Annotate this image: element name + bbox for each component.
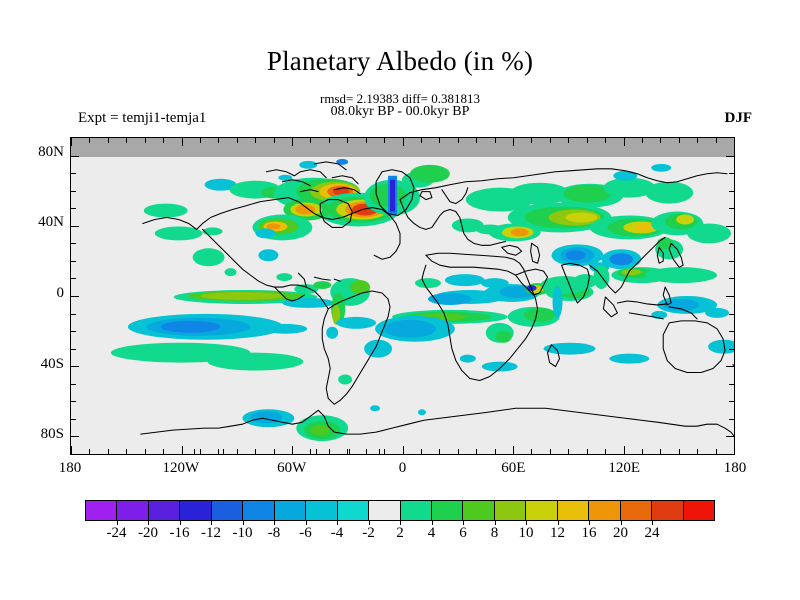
y-tick-minor — [729, 278, 734, 279]
figure-root: Planetary Albedo (in %) rmsd= 2.19383 di… — [0, 0, 800, 600]
x-tick-minor — [145, 138, 146, 143]
y-axis-label: 80N — [18, 144, 64, 161]
x-tick-minor — [349, 449, 350, 454]
colorbar-tick-label: -12 — [201, 525, 221, 542]
x-tick-major — [403, 138, 404, 146]
x-axis-label: 0 — [368, 460, 438, 477]
y-tick-minor — [729, 191, 734, 192]
y-axis-label: 80S — [18, 426, 64, 443]
colorbar-swatch — [212, 501, 243, 520]
x-tick-minor — [531, 138, 532, 143]
colorbar-swatch — [117, 501, 148, 520]
y-axis-label: 40N — [18, 214, 64, 231]
colorbar-swatch — [369, 501, 400, 520]
y-tick-major — [726, 366, 734, 367]
y-tick-minor — [71, 243, 76, 244]
y-tick-minor — [729, 261, 734, 262]
x-tick-minor — [163, 449, 164, 454]
y-axis-label: 0 — [18, 285, 64, 302]
colorbar-swatch — [243, 501, 274, 520]
y-tick-minor — [71, 401, 76, 402]
x-tick-minor — [439, 449, 440, 454]
y-tick-major — [726, 156, 734, 157]
x-tick-major — [71, 446, 72, 454]
colorbar-swatch — [306, 501, 337, 520]
colorbar-tick-label: 6 — [459, 525, 467, 542]
x-tick-minor — [421, 138, 422, 143]
x-tick-minor — [316, 449, 317, 454]
y-tick-minor — [729, 384, 734, 385]
x-tick-major — [182, 446, 183, 454]
colorbar-swatch — [275, 501, 306, 520]
colorbar-swatch — [149, 501, 180, 520]
colorbar-labels: -24-20-16-12-10-8-6-4-224681012162024 — [85, 525, 715, 545]
colorbar-swatch — [652, 501, 683, 520]
x-tick-minor — [642, 449, 643, 454]
colorbar-swatch — [463, 501, 494, 520]
anomaly-shading — [111, 159, 734, 441]
x-tick-major — [734, 138, 735, 146]
y-tick-minor — [729, 208, 734, 209]
x-tick-minor — [716, 449, 717, 454]
x-tick-minor — [329, 449, 330, 454]
colorbar-tick-label: 20 — [613, 525, 628, 542]
x-axis-label: 180 — [700, 460, 770, 477]
x-tick-minor — [384, 138, 385, 143]
colorbar-tick-label: 4 — [428, 525, 436, 542]
x-tick-major — [182, 138, 183, 146]
y-tick-major — [71, 296, 79, 297]
y-tick-minor — [71, 191, 76, 192]
x-tick-minor — [223, 449, 224, 454]
x-tick-minor — [366, 449, 367, 454]
y-tick-major — [71, 436, 79, 437]
x-tick-minor — [716, 138, 717, 143]
x-tick-minor — [476, 138, 477, 143]
y-tick-minor — [729, 419, 734, 420]
colorbar-swatch — [338, 501, 369, 520]
x-tick-minor — [568, 449, 569, 454]
colorbar-tick-label: 2 — [396, 525, 404, 542]
colorbar-swatch — [86, 501, 117, 520]
x-tick-minor — [531, 449, 532, 454]
colorbar-tick-label: -10 — [233, 525, 253, 542]
season-label: DJF — [725, 110, 753, 127]
x-tick-minor — [108, 138, 109, 143]
x-tick-minor — [145, 449, 146, 454]
x-tick-minor — [255, 449, 256, 454]
colorbar-swatch — [589, 501, 620, 520]
map-field — [71, 138, 734, 454]
x-tick-major — [624, 446, 625, 454]
x-tick-minor — [347, 449, 348, 454]
x-tick-minor — [237, 138, 238, 143]
x-tick-major — [734, 446, 735, 454]
x-tick-minor — [329, 138, 330, 143]
x-tick-minor — [605, 449, 606, 454]
y-axis-label: 40S — [18, 356, 64, 373]
y-tick-minor — [729, 349, 734, 350]
colorbar-tick-label: 24 — [645, 525, 660, 542]
y-tick-major — [71, 156, 79, 157]
colorbar-swatch — [558, 501, 589, 520]
x-tick-minor — [550, 449, 551, 454]
y-tick-minor — [71, 419, 76, 420]
x-tick-minor — [274, 449, 275, 454]
colorbar-swatch — [684, 501, 714, 520]
colorbar-swatch — [621, 501, 652, 520]
x-tick-minor — [660, 138, 661, 143]
page-title: Planetary Albedo (in %) — [0, 46, 800, 77]
x-tick-minor — [194, 449, 195, 454]
x-tick-minor — [679, 138, 680, 143]
x-tick-minor — [218, 138, 219, 143]
colorbar-tick-label: 8 — [491, 525, 499, 542]
x-tick-major — [403, 446, 404, 454]
x-tick-minor — [200, 449, 201, 454]
x-tick-minor — [587, 138, 588, 143]
x-axis-label: 180 — [35, 460, 105, 477]
x-tick-minor — [108, 449, 109, 454]
y-tick-major — [71, 226, 79, 227]
colorbar-swatch — [180, 501, 211, 520]
x-tick-minor — [421, 449, 422, 454]
x-tick-minor — [697, 449, 698, 454]
x-tick-minor — [476, 449, 477, 454]
x-axis-label: 60E — [478, 460, 548, 477]
x-tick-major — [624, 138, 625, 146]
x-tick-major — [71, 138, 72, 146]
x-tick-minor — [679, 449, 680, 454]
x-tick-minor — [439, 138, 440, 143]
x-tick-minor — [366, 138, 367, 143]
x-tick-minor — [587, 449, 588, 454]
colorbar-tick-label: -20 — [138, 525, 158, 542]
x-axis-label: 60W — [257, 460, 327, 477]
x-tick-minor — [200, 138, 201, 143]
x-axis-label: 120E — [589, 460, 659, 477]
y-tick-minor — [71, 261, 76, 262]
colorbar-tick-label: -16 — [170, 525, 190, 542]
x-tick-minor — [495, 138, 496, 143]
y-tick-minor — [729, 173, 734, 174]
colorbar-tick-label: -6 — [299, 525, 312, 542]
y-tick-minor — [729, 401, 734, 402]
y-tick-minor — [71, 314, 76, 315]
x-tick-minor — [568, 138, 569, 143]
x-tick-minor — [697, 138, 698, 143]
x-axis-label: 120W — [146, 460, 216, 477]
x-tick-minor — [660, 449, 661, 454]
x-tick-minor — [458, 138, 459, 143]
y-tick-major — [726, 296, 734, 297]
colorbar-tick-label: -2 — [362, 525, 375, 542]
y-tick-minor — [729, 331, 734, 332]
colorbar-tick-label: 16 — [582, 525, 597, 542]
y-tick-minor — [71, 331, 76, 332]
x-tick-minor — [642, 138, 643, 143]
y-tick-minor — [71, 208, 76, 209]
colorbar-tick-label: -4 — [331, 525, 344, 542]
x-tick-minor — [310, 449, 311, 454]
colorbar-tick-label: 10 — [519, 525, 534, 542]
x-tick-minor — [255, 138, 256, 143]
y-tick-minor — [71, 278, 76, 279]
map-plot-area — [70, 137, 735, 455]
x-tick-minor — [347, 138, 348, 143]
x-tick-major — [513, 446, 514, 454]
colorbar-swatch — [401, 501, 432, 520]
x-tick-minor — [89, 138, 90, 143]
x-tick-minor — [495, 449, 496, 454]
colorbar-tick-label: -24 — [107, 525, 127, 542]
y-tick-major — [726, 436, 734, 437]
colorbar-tick-label: -8 — [268, 525, 281, 542]
x-tick-minor — [458, 449, 459, 454]
colorbar-swatch — [495, 501, 526, 520]
x-tick-minor — [126, 138, 127, 143]
x-tick-minor — [163, 138, 164, 143]
y-tick-minor — [71, 349, 76, 350]
y-tick-major — [726, 226, 734, 227]
y-tick-minor — [71, 173, 76, 174]
colorbar-tick-label: 12 — [550, 525, 565, 542]
colorbar-swatch — [432, 501, 463, 520]
y-tick-minor — [729, 243, 734, 244]
x-tick-major — [513, 138, 514, 146]
x-tick-minor — [126, 449, 127, 454]
x-tick-minor — [605, 138, 606, 143]
x-tick-minor — [379, 449, 380, 454]
colorbar-swatch — [526, 501, 557, 520]
x-tick-minor — [237, 449, 238, 454]
colorbar[interactable] — [85, 500, 715, 521]
x-tick-minor — [384, 449, 385, 454]
y-tick-minor — [71, 384, 76, 385]
x-tick-major — [292, 138, 293, 146]
x-tick-minor — [310, 138, 311, 143]
x-tick-minor — [274, 138, 275, 143]
x-tick-major — [292, 446, 293, 454]
y-tick-minor — [729, 314, 734, 315]
x-tick-minor — [89, 449, 90, 454]
x-tick-minor — [218, 449, 219, 454]
x-tick-minor — [550, 138, 551, 143]
y-tick-major — [71, 366, 79, 367]
experiment-label: Expt = temji1-temja1 — [78, 110, 206, 127]
